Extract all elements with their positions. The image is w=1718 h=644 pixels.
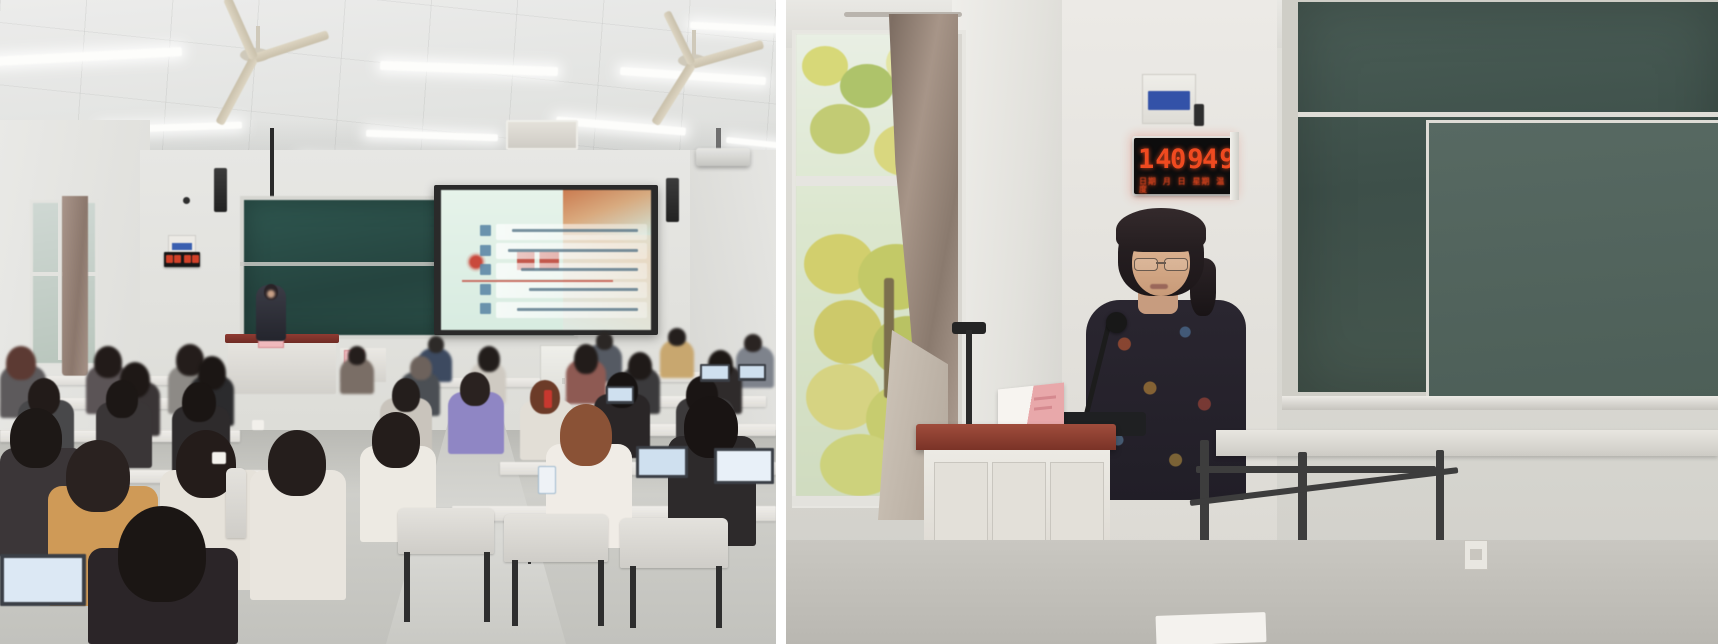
side-bench-desk — [1216, 430, 1718, 456]
podium-top — [916, 424, 1116, 450]
chair — [226, 468, 246, 538]
blue-sign — [1142, 74, 1196, 124]
paper-on-floor — [1156, 612, 1267, 644]
chalk-tray — [1282, 396, 1718, 410]
attendee-head — [182, 382, 216, 422]
tree-foliage — [810, 104, 870, 154]
chalkboard-lower-sliding — [1426, 120, 1718, 404]
laptop-screen — [740, 366, 764, 378]
led-clock-hour: 14 — [1138, 146, 1173, 173]
attendee-head — [668, 328, 686, 346]
slide-toc-number — [480, 264, 491, 275]
attendee-head — [268, 430, 326, 496]
chair-leg — [484, 552, 490, 622]
attendee-head — [6, 346, 36, 380]
chair — [504, 514, 608, 562]
chair-leg — [404, 552, 410, 622]
wall-speaker — [666, 178, 679, 222]
ac-vent — [506, 120, 578, 150]
attendee-head — [428, 336, 444, 353]
outlet-face — [1470, 549, 1482, 560]
name-card-line — [1034, 406, 1052, 411]
laptop-screen — [608, 388, 632, 401]
wall-speaker — [214, 168, 227, 212]
chair-leg — [630, 566, 636, 628]
attendee-head — [94, 346, 122, 378]
attendee-head — [118, 506, 206, 602]
name-card-line — [1034, 395, 1056, 400]
chair-leg — [598, 560, 604, 626]
attendee-head — [392, 378, 420, 412]
wall-sensor-icon — [1194, 104, 1204, 126]
attendee-head — [744, 334, 762, 352]
led-digit — [166, 255, 173, 263]
blue-sign-face — [172, 243, 192, 250]
attendee-head — [596, 332, 613, 350]
chair-leg — [512, 560, 518, 626]
laptop-screen — [702, 366, 728, 379]
slide-toc-number — [480, 284, 491, 295]
bench-rail-horizontal — [1196, 466, 1436, 473]
attendee-head — [560, 404, 612, 466]
attendee-head — [348, 346, 366, 365]
photo-pair-sheet: 14 09 49 日期 月 日 星期 温度 — [0, 0, 1718, 644]
podium — [228, 340, 336, 394]
slide-toc-text — [508, 249, 638, 252]
slide-toc-text — [512, 229, 638, 232]
microphone-head — [1106, 312, 1127, 333]
left-scene — [0, 0, 776, 644]
led-digit — [192, 255, 199, 263]
drink-cup — [538, 466, 556, 494]
ceiling-hanging-rod — [270, 128, 274, 200]
speaker-hair-top — [1116, 208, 1206, 252]
security-camera-icon — [183, 197, 190, 204]
laptop-screen — [4, 558, 82, 602]
laptop-screen — [639, 449, 685, 475]
attendee-head — [410, 356, 432, 380]
chair-leg — [716, 566, 722, 628]
slide-toc-number — [480, 303, 491, 314]
drink-cup — [212, 452, 226, 464]
slide-toc-number — [480, 225, 491, 236]
tree-foliage — [840, 64, 894, 108]
chalkboard-rail — [1298, 112, 1718, 117]
led-digit — [174, 255, 181, 263]
clock-edge-trim — [1230, 132, 1239, 200]
attendee-head — [478, 346, 500, 372]
speaker-glasses-right-lens — [1164, 258, 1188, 271]
attendee-head — [66, 440, 130, 512]
led-clock — [164, 252, 200, 267]
speaker-mouth — [1150, 284, 1168, 289]
photo-left-classroom-wide — [0, 0, 776, 644]
curtain-left — [62, 196, 88, 376]
speaker-glasses-left-lens — [1134, 258, 1158, 271]
projector-mount-arm — [716, 128, 721, 150]
projector — [696, 148, 750, 166]
drink-cup — [252, 420, 264, 430]
slide-divider-rule — [462, 280, 613, 282]
attendee-head — [10, 408, 62, 468]
slide-toc-text — [521, 268, 639, 271]
blue-sign-face — [1148, 91, 1190, 110]
laptop-screen — [717, 451, 771, 481]
projection-screen — [441, 190, 651, 330]
right-scene: 14 09 49 日期 月 日 星期 温度 — [786, 0, 1718, 644]
photo-gutter — [776, 0, 786, 644]
speaker-glasses-bridge — [1156, 262, 1166, 264]
tree-foliage — [814, 300, 882, 364]
attendee-head — [460, 372, 490, 406]
attendee-head — [574, 344, 598, 374]
water-bottle — [544, 390, 552, 408]
slide-toc-text — [529, 288, 638, 291]
led-clock-minute: 09 — [1170, 146, 1205, 173]
attendee-head — [106, 380, 138, 418]
chair — [398, 508, 494, 554]
slide-toc-number — [480, 245, 491, 256]
photo-right-speaker-close: 14 09 49 日期 月 日 星期 温度 — [786, 0, 1718, 644]
led-clock: 14 09 49 日期 月 日 星期 温度 — [1134, 138, 1234, 194]
led-digit — [184, 255, 191, 263]
led-clock-sublabel: 日期 月 日 星期 温度 — [1139, 178, 1234, 194]
chair — [620, 518, 728, 568]
attendee-head — [372, 412, 420, 468]
slide-toc-text — [517, 308, 639, 311]
presenter-face — [267, 290, 275, 298]
wall-outlet — [1464, 540, 1488, 570]
